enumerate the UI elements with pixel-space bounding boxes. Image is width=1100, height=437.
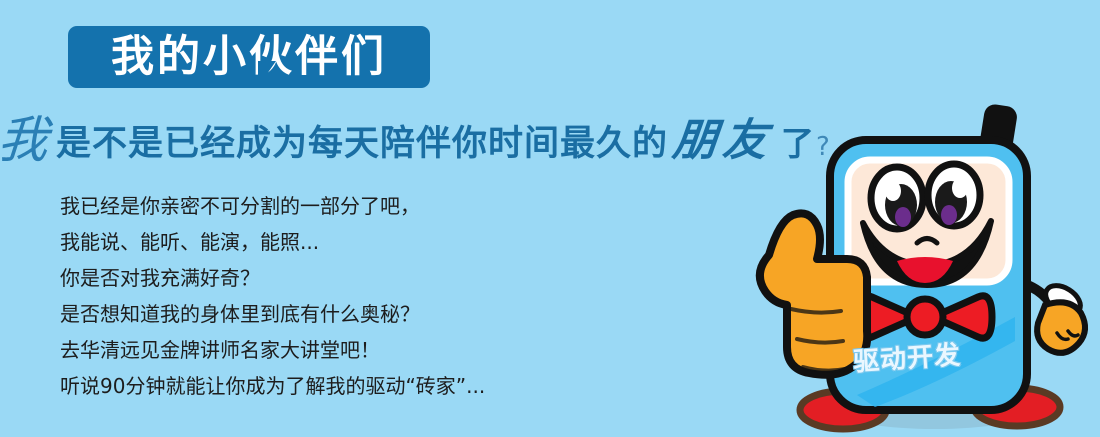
- mascot-phone-character: 驱动开发: [745, 95, 1100, 437]
- promo-banner: 我的小伙伴们 我 是不是已经成为每天陪伴你时间最久的 朋友 了 ? 我已经是你亲…: [0, 0, 1100, 437]
- headline-main-text: 是不是已经成为每天陪伴你时间最久的: [56, 127, 668, 162]
- body-line: 是否想知道我的身体里到底有什么奥秘？: [60, 296, 680, 332]
- body-line: 去华清远见金牌讲师名家大讲堂吧！: [60, 332, 680, 368]
- body-line: 我能说、能听、能演，能照...: [60, 224, 680, 260]
- headline-brush-lead: 我: [0, 115, 50, 165]
- speech-bubble-tail: [258, 61, 285, 87]
- eye-left-icon: [871, 167, 923, 229]
- banner-title: 我的小伙伴们: [68, 26, 430, 88]
- body-line: 我已经是你亲密不可分割的一部分了吧，: [60, 188, 680, 224]
- body-copy: 我已经是你亲密不可分割的一部分了吧， 我能说、能听、能演，能照... 你是否对我…: [60, 188, 680, 404]
- bowtie-icon: [858, 296, 992, 338]
- headline: 我 是不是已经成为每天陪伴你时间最久的 朋友 了 ?: [2, 113, 832, 171]
- body-line: 听说90分钟就能让你成为了解我的驱动“砖家”...: [60, 368, 680, 404]
- hand-right-icon: [1037, 302, 1085, 353]
- title-speech-bubble: 我的小伙伴们: [68, 26, 430, 88]
- body-line: 你是否对我充满好奇？: [60, 260, 680, 296]
- eye-right-icon: [928, 164, 980, 226]
